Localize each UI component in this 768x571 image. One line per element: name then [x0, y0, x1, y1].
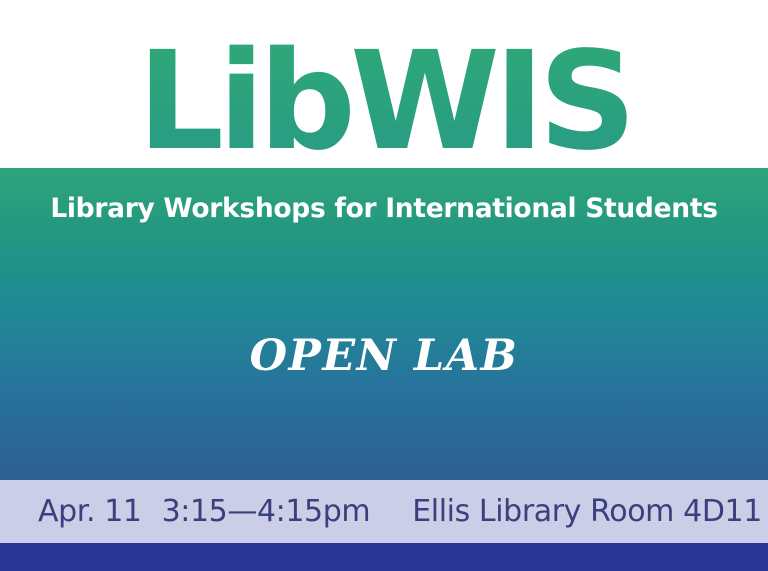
event-title: OPEN LAB	[0, 330, 768, 382]
event-location: Ellis Library Room 4D11	[412, 495, 762, 529]
poster-canvas: LibWIS Library Workshops for Internation…	[0, 0, 768, 571]
event-time: 3:15—4:15pm	[162, 495, 371, 529]
bottom-accent-bar	[0, 543, 768, 571]
program-subtitle: Library Workshops for International Stud…	[0, 192, 768, 226]
event-date: Apr. 11	[38, 495, 142, 529]
event-details-row: Apr. 11 3:15—4:15pm Ellis Library Room 4…	[0, 495, 768, 529]
header-white-area	[0, 0, 768, 168]
event-details-band: Apr. 11 3:15—4:15pm Ellis Library Room 4…	[0, 480, 768, 543]
